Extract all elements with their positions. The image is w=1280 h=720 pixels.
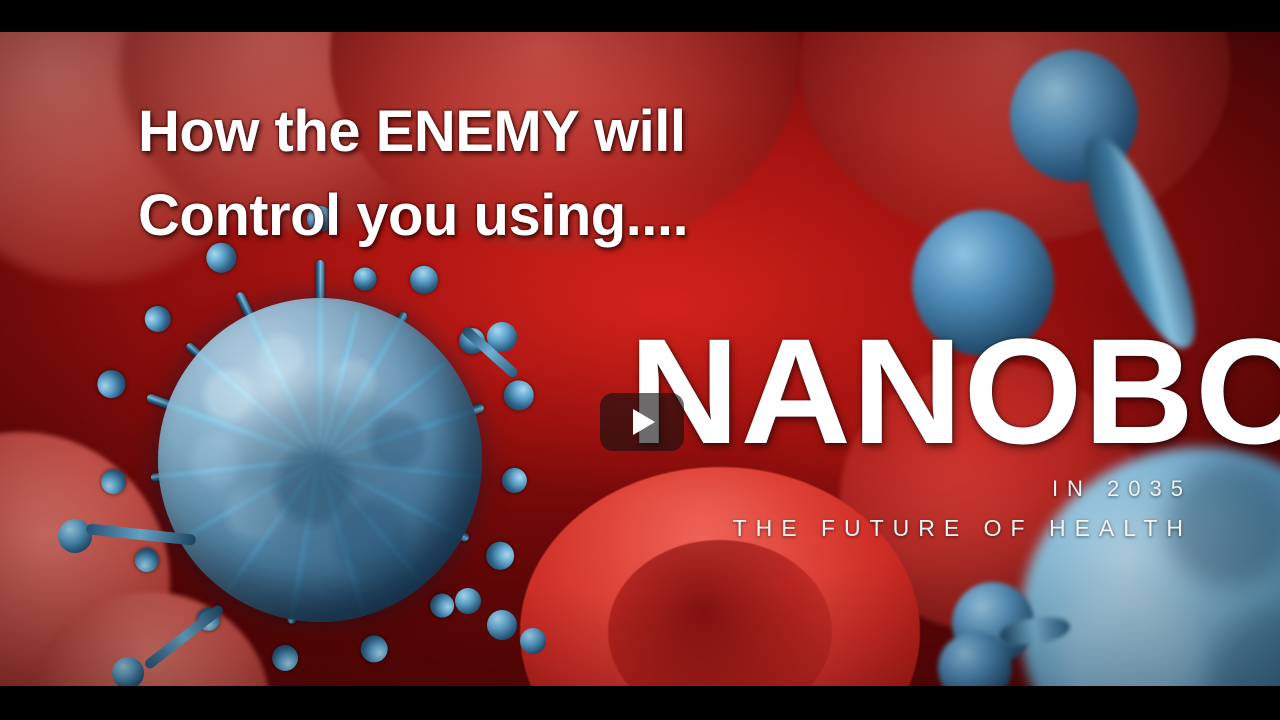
headline: How the ENEMY will Control you using.... — [138, 90, 858, 258]
nanobot-small — [487, 610, 517, 640]
letterbox-bottom — [0, 686, 1280, 720]
brand-year: IN 2035 — [640, 476, 1192, 502]
letterbox-top — [0, 0, 1280, 32]
nanobot-core-shadow — [230, 384, 420, 564]
nanobot-small — [58, 519, 92, 553]
brand-tagline: THE FUTURE OF HEALTH — [640, 515, 1192, 542]
play-button[interactable] — [600, 393, 684, 451]
headline-line-2: Control you using.... — [138, 174, 858, 258]
brand-title: NANOBOTS — [629, 328, 1192, 454]
video-frame[interactable]: How the ENEMY will Control you using....… — [0, 32, 1280, 686]
brand-block: NANOBOTS IN 2035 THE FUTURE OF HEALTH — [640, 328, 1192, 542]
primary-nanobot — [158, 298, 482, 622]
nanobot-small — [455, 588, 481, 614]
video-thumbnail-stage: How the ENEMY will Control you using....… — [0, 0, 1280, 720]
play-icon — [633, 409, 655, 435]
nanobot-small — [520, 628, 546, 654]
nanobot-small — [112, 657, 144, 686]
headline-line-1: How the ENEMY will — [138, 90, 858, 174]
